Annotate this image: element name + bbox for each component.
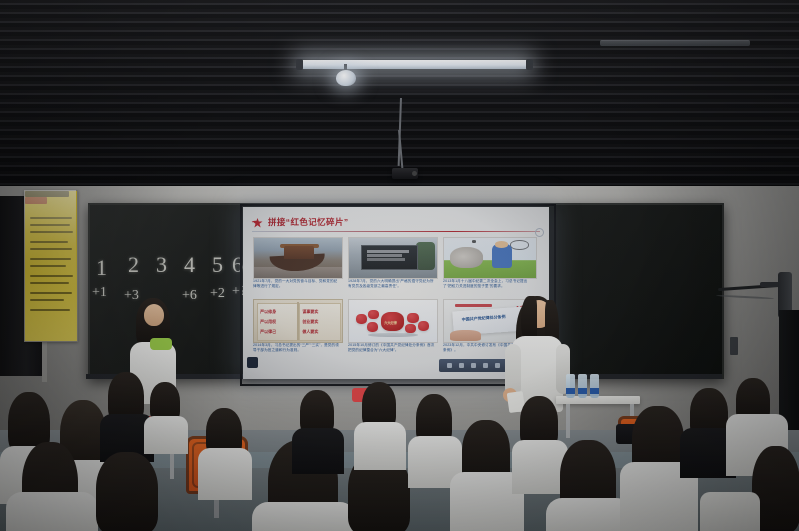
audience-head-foreground <box>96 452 158 531</box>
fluorescent-tube-light <box>300 60 528 69</box>
water-bottle <box>566 374 575 398</box>
board-student-head <box>144 304 164 326</box>
water-bottle-label <box>590 388 599 394</box>
audience-body <box>292 428 344 474</box>
audience-body-foreground <box>6 492 98 531</box>
audience-body-foreground <box>700 492 760 531</box>
audience-body <box>144 416 188 454</box>
water-bottle <box>590 374 599 398</box>
water-bottle-label <box>578 388 587 394</box>
projector-lens-icon <box>412 171 417 176</box>
wall-switch-box[interactable] <box>730 337 738 355</box>
desk-leg <box>566 404 570 438</box>
screen-projection-glow <box>243 207 549 379</box>
audience-body <box>198 448 252 500</box>
poster-glare <box>24 190 76 340</box>
board-student-badge <box>150 338 172 350</box>
tube-cap-left <box>296 59 303 70</box>
water-bottle-label <box>566 388 575 394</box>
fluorescent-tube-light-secondary <box>600 40 750 46</box>
dome-ceiling-lamp-icon <box>336 70 356 86</box>
tube-cap-right <box>526 59 533 70</box>
water-bottle <box>578 374 587 398</box>
audience-body <box>354 422 406 470</box>
classroom-photo: 1 2 3 4 5 6 +1 +3 +6 +2 +? 拼接“红色记忆碎片” <box>0 0 799 531</box>
speaker-mount-arm <box>760 282 780 287</box>
audience-body-foreground <box>252 502 356 531</box>
